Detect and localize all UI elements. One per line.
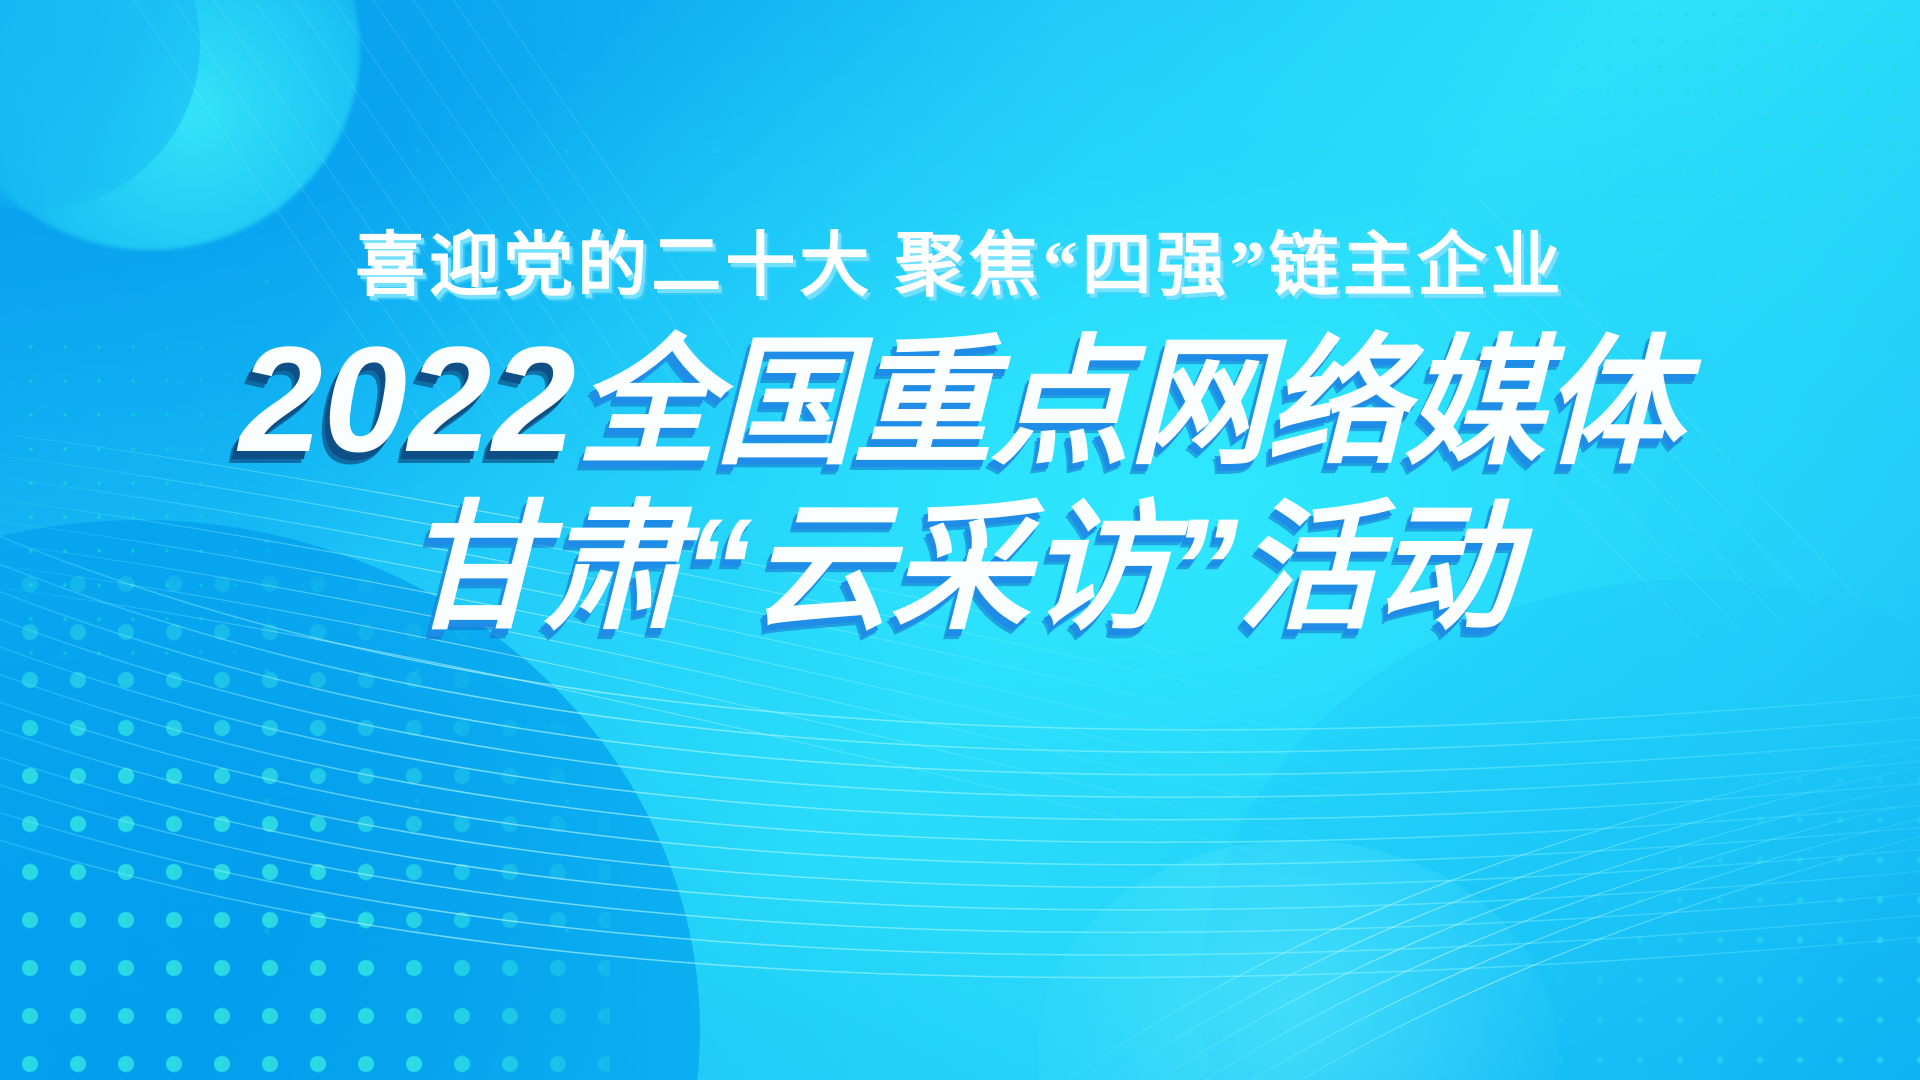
- poster-subtitle: 喜迎党的二十大 聚焦“四强”链主企业: [355, 232, 1565, 302]
- poster-title-line-2: 甘肃“云采访”活动: [404, 498, 1515, 638]
- glow-bottom-right: [1200, 580, 1920, 1080]
- dot-grid-bottom-right-icon: [1460, 760, 1920, 1080]
- poster-title-year: 2022: [239, 315, 577, 483]
- poster-canvas: 喜迎党的二十大 聚焦“四强”链主企业 2022全国重点网络媒体 甘肃“云采访”活…: [0, 0, 1920, 1080]
- poster-title-line-1: 2022全国重点网络媒体: [239, 324, 1681, 474]
- title-block: 喜迎党的二十大 聚焦“四强”链主企业 2022全国重点网络媒体 甘肃“云采访”活…: [0, 0, 1920, 638]
- poster-title-line-1-text: 全国重点网络媒体: [577, 324, 1681, 481]
- glow-bottom-middle: [1037, 840, 1557, 1080]
